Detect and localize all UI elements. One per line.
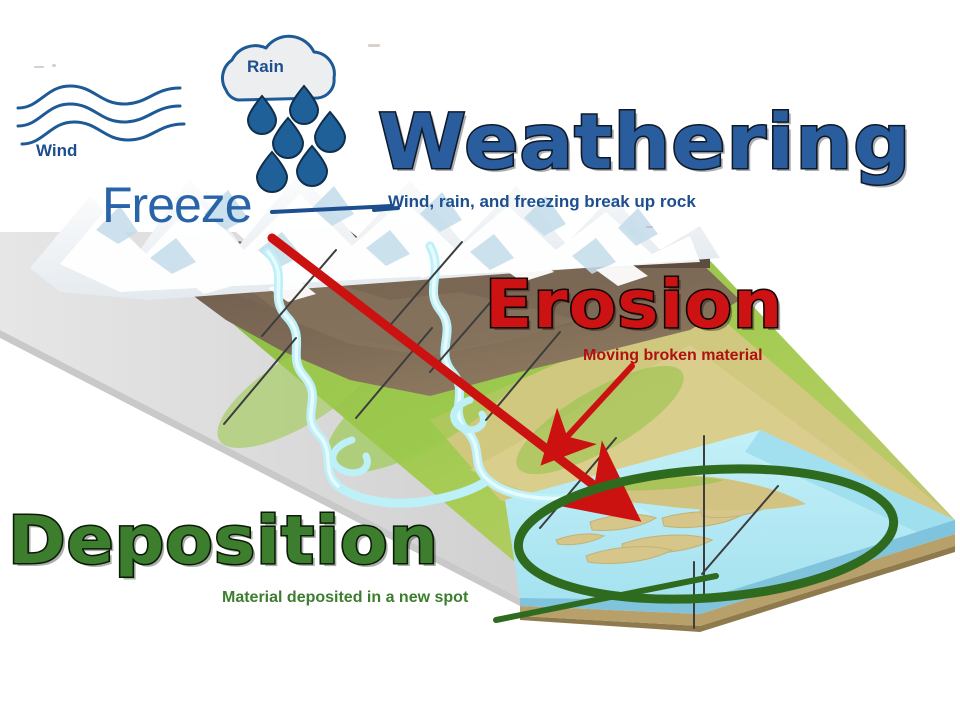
erosion-title: Erosion — [485, 272, 783, 338]
rain-label: Rain — [247, 57, 284, 77]
deposition-subtitle: Material deposited in a new spot — [222, 589, 468, 607]
deposition-title: Deposition — [8, 508, 439, 574]
wind-label: Wind — [36, 141, 77, 161]
weathering-subtitle: Wind, rain, and freezing break up rock — [388, 192, 696, 212]
freeze-label: Freeze — [102, 176, 252, 234]
diagram-canvas: Wind Rain Freeze Weathering Wind, rain, … — [0, 0, 960, 720]
weathering-title: Weathering — [378, 104, 911, 180]
erosion-subtitle: Moving broken material — [583, 347, 763, 365]
